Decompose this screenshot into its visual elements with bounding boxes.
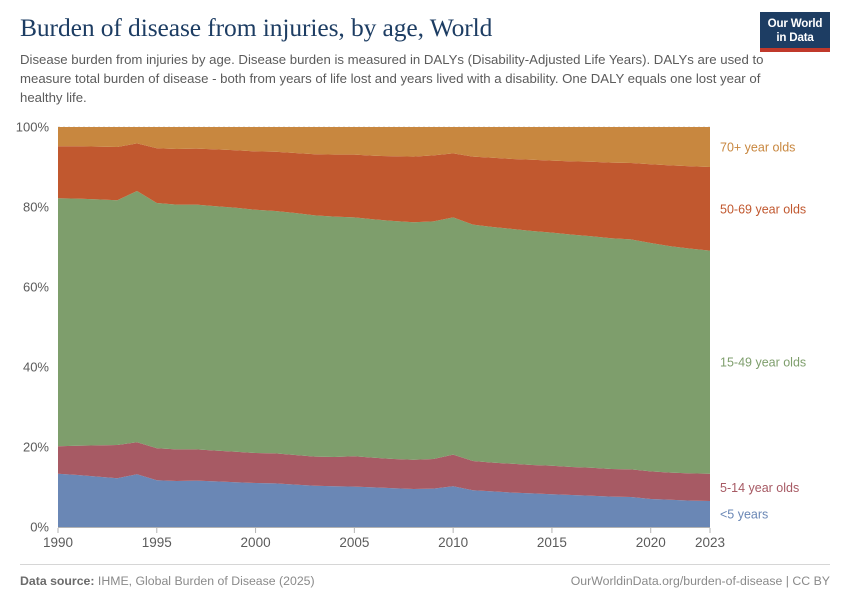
y-tick-label: 20% xyxy=(23,440,49,455)
y-tick-label: 0% xyxy=(30,520,49,535)
x-tick-label: 1990 xyxy=(43,535,73,550)
y-tick-label: 80% xyxy=(23,200,49,215)
y-tick-label: 40% xyxy=(23,360,49,375)
logo-line-1: Our World xyxy=(760,17,830,31)
data-source-value: IHME, Global Burden of Disease (2025) xyxy=(98,574,315,588)
footer-url-license[interactable]: OurWorldinData.org/burden-of-disease | C… xyxy=(571,574,830,588)
series-label[interactable]: 15-49 year olds xyxy=(720,356,806,370)
chart-x-tick-labels: 19901995200020052010201520202023 xyxy=(43,535,725,550)
series-label[interactable]: 5-14 year olds xyxy=(720,481,799,495)
x-tick-label: 2000 xyxy=(241,535,271,550)
x-tick-label: 2015 xyxy=(537,535,567,550)
logo-line-2: in Data xyxy=(760,31,830,45)
series-label[interactable]: 50-69 year olds xyxy=(720,202,806,216)
data-source: Data source: IHME, Global Burden of Dise… xyxy=(20,574,315,588)
series-label[interactable]: 70+ year olds xyxy=(720,141,795,155)
chart-y-tick-labels: 0%20%40%60%80%100% xyxy=(16,120,50,535)
chart-subtitle: Disease burden from injuries by age. Dis… xyxy=(20,51,765,107)
y-tick-label: 60% xyxy=(23,280,49,295)
stacked-area-chart[interactable]: 0%20%40%60%80%100% 199019952000200520102… xyxy=(0,110,850,560)
chart-svg: 0%20%40%60%80%100% 199019952000200520102… xyxy=(0,110,850,560)
chart-legend: 70+ year olds50-69 year olds15-49 year o… xyxy=(720,141,806,522)
x-tick-label: 1995 xyxy=(142,535,172,550)
x-tick-label: 2020 xyxy=(636,535,666,550)
y-tick-label: 100% xyxy=(16,120,50,135)
chart-x-axis xyxy=(58,528,710,534)
chart-page: Burden of disease from injuries, by age,… xyxy=(0,0,850,600)
page-title: Burden of disease from injuries, by age,… xyxy=(20,14,830,42)
owid-logo[interactable]: Our World in Data xyxy=(760,12,830,52)
chart-areas xyxy=(58,127,710,527)
series-label[interactable]: <5 years xyxy=(720,508,768,522)
chart-footer: Data source: IHME, Global Burden of Dise… xyxy=(20,564,830,588)
chart-header: Burden of disease from injuries, by age,… xyxy=(0,0,850,107)
x-tick-label: 2010 xyxy=(438,535,468,550)
data-source-label: Data source: xyxy=(20,574,95,588)
x-tick-label: 2023 xyxy=(695,535,725,550)
x-tick-label: 2005 xyxy=(339,535,369,550)
